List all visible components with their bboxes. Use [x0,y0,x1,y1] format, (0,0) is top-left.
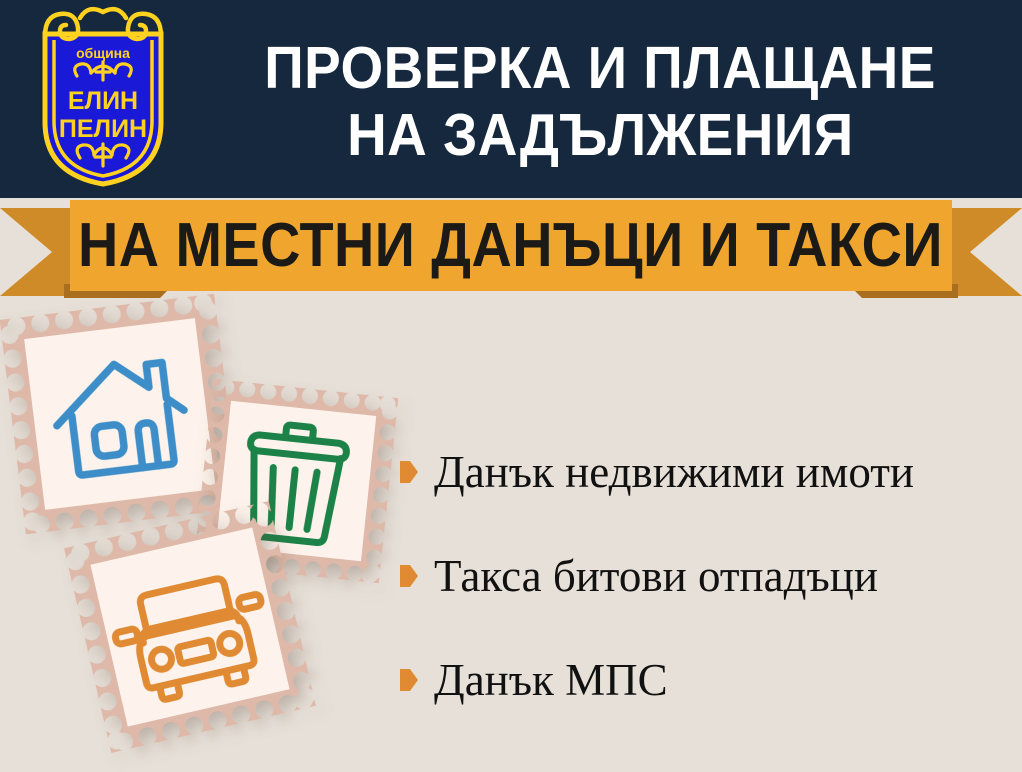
ribbon-panel: НА МЕСТНИ ДАНЪЦИ И ТАКСИ [70,200,952,291]
list-item[interactable]: Данък недвижими имоти [400,420,1010,524]
crest-line-top: община [76,45,130,61]
page-title: ПРОВЕРКА И ПЛАЩАНЕ НА ЗАДЪЛЖЕНИЯ [190,14,1010,190]
subtitle-ribbon: НА МЕСТНИ ДАНЪЦИ И ТАКСИ [0,198,1022,306]
bullet-arrow-icon [400,565,418,587]
list-item-label: Такса битови отпадъци [434,554,878,599]
ribbon-label: НА МЕСТНИ ДАНЪЦИ И ТАКСИ [79,215,944,277]
list-item[interactable]: Такса битови отпадъци [400,524,1010,628]
stamp-illustration-group [0,290,400,772]
bullet-arrow-icon [400,669,418,691]
coat-of-arms-icon: община ЕЛИН ПЕЛИН [18,6,188,188]
page-title-line-2: НА ЗАДЪЛЖЕНИЯ [347,102,854,169]
crest-line-bottom: ПЕЛИН [59,115,147,143]
list-item[interactable]: Данък МПС [400,628,1010,732]
list-item-label: Данък МПС [434,658,668,703]
page-title-line-1: ПРОВЕРКА И ПЛАЩАНЕ [264,35,936,102]
bullet-arrow-icon [400,461,418,483]
poster-root: община ЕЛИН ПЕЛИН ПРОВЕРКА [0,0,1022,772]
crest-line-mid: ЕЛИН [68,87,138,115]
tax-type-list: Данък недвижими имоти Такса битови отпад… [400,420,1010,732]
list-item-label: Данък недвижими имоти [434,450,914,495]
